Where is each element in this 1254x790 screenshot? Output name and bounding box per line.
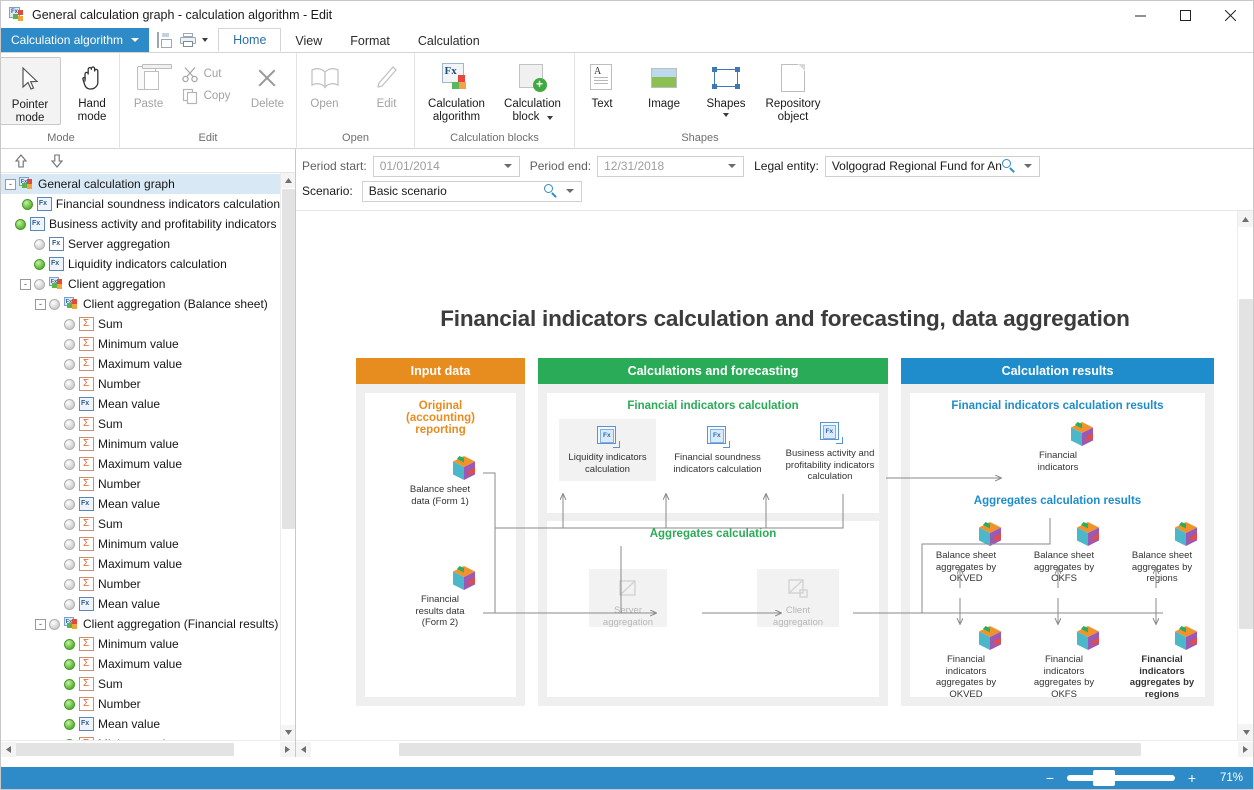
tree-scroll-thumb[interactable] (282, 189, 295, 529)
node-balance-sheet-data[interactable]: Balance sheet data (Form 1) (440, 455, 488, 507)
sigma-icon (79, 557, 94, 571)
tree-expander-spacer (50, 639, 61, 650)
parameters-bar: Period start: 01/01/2014 Period end: 12/… (296, 149, 1253, 211)
delete-label: Delete (251, 98, 284, 111)
cut-button[interactable]: Cut (180, 63, 237, 85)
tree-pane: -FxGeneral calculation graphFinancial so… (1, 149, 296, 757)
tree-item[interactable]: Number (1, 374, 280, 394)
panel-title-aggregates-calculation: Aggregates calculation (547, 521, 879, 540)
status-bullet (64, 519, 75, 530)
diagram-column-calculations: Calculations and forecasting Financial i… (538, 358, 888, 706)
status-bullet (64, 699, 75, 710)
tree-vertical-scrollbar[interactable] (280, 173, 295, 740)
node-client-aggregation[interactable]: Client aggregation (757, 569, 839, 627)
node-label-financial-results-data: Financial results data (Form 2) (392, 594, 488, 629)
tree-horizontal-scrollbar[interactable] (1, 740, 295, 757)
panel-original-reporting: Original (accounting) reporting (365, 393, 516, 697)
print-icon[interactable] (180, 33, 196, 47)
tree-item-label: Sum (98, 517, 123, 531)
minimize-button[interactable] (1118, 1, 1163, 29)
shapes-dropdown-icon[interactable] (723, 113, 729, 117)
arrow-up-icon[interactable] (13, 153, 29, 169)
text-page-icon: A (590, 61, 614, 95)
ribbon-group-mode: Pointermode Handmode Mode (3, 53, 120, 149)
canvas-scroll-area: Financial indicators calculation and for… (296, 211, 1253, 740)
canvas-scroll-left-button[interactable] (296, 742, 311, 757)
cube-icon (977, 521, 1003, 547)
parameters-row-2: Scenario: Basic scenario (302, 180, 1253, 202)
copy-button[interactable]: Copy (180, 85, 237, 107)
client-aggregation-icon (786, 579, 811, 601)
tree-item-label: Business activity and profitability indi… (49, 217, 280, 231)
repository-object-label-1: Repository (766, 98, 821, 110)
node-financial-indicators[interactable]: Financial indicators (1058, 421, 1106, 473)
column-body-calculations: Financial indicators calculation Fx Liqu… (538, 384, 888, 706)
node-label-financial-indicators: Financial indicators (1010, 450, 1106, 473)
quick-access-more-icon[interactable] (202, 38, 208, 42)
tree-expander-spacer (50, 719, 61, 730)
ribbon-group-label-mode: Mode (47, 131, 75, 147)
tree-item[interactable]: Financial soundness indicators calculati… (1, 194, 280, 214)
node-box-server-aggregation: Server aggregation (589, 569, 667, 627)
tree-item[interactable]: -FxGeneral calculation graph (1, 174, 280, 194)
tree-item-label: Number (98, 477, 141, 491)
tab-format[interactable]: Format (336, 30, 404, 52)
column-header-input-data: Input data (356, 358, 525, 384)
fx-document-icon (37, 197, 52, 211)
ribbon-group-shapes: A Text Image Shapes (575, 53, 825, 149)
tree-expander-spacer (50, 699, 61, 710)
node-financial-indicators-aggregates-regions[interactable]: Financial indicators aggregates by regio… (1162, 625, 1210, 700)
ribbon-tabs: Home View Format Calculation (218, 28, 494, 52)
shapes-icon (711, 61, 741, 95)
scroll-up-button[interactable] (281, 173, 295, 188)
copy-icon (182, 88, 199, 105)
fx-document-icon (79, 597, 94, 611)
text-button[interactable]: A Text (571, 57, 633, 111)
status-bullet (64, 659, 75, 670)
fx-icon (49, 237, 64, 251)
tree-toolbar (1, 149, 295, 173)
sigma-icon (79, 417, 94, 431)
open-button[interactable]: Open (294, 57, 356, 111)
period-end-field[interactable]: 12/31/2018 (597, 156, 744, 177)
ribbon-group-label-shapes: Shapes (681, 131, 718, 147)
node-liquidity-indicators-calculation[interactable]: Fx Liquidity indicators calculation (559, 419, 656, 481)
repository-object-icon (781, 61, 805, 95)
node-balance-sheet-aggregates-regions[interactable]: Balance sheet aggregates by regions (1162, 521, 1210, 585)
period-end-label: Period end: (530, 159, 591, 173)
sigma-icon (79, 477, 94, 491)
status-bullet (49, 619, 60, 630)
tree-item-label: Server aggregation (68, 237, 170, 251)
maximize-button[interactable] (1163, 1, 1208, 29)
chevron-down-icon[interactable] (728, 164, 736, 168)
scenario-label: Scenario: (302, 184, 353, 198)
canvas-vertical-scrollbar[interactable] (1237, 211, 1253, 740)
copy-label: Copy (204, 90, 231, 102)
image-button[interactable]: Image (633, 57, 695, 111)
legal-entity-field[interactable]: Volgograd Regional Fund for Animal ' (825, 156, 1040, 177)
ribbon-group-label-calculation-blocks: Calculation blocks (450, 131, 539, 147)
chevron-down-icon[interactable] (566, 189, 574, 193)
tree-expander-spacer (20, 239, 31, 250)
ribbon: Pointermode Handmode Mode Paste (1, 53, 1253, 149)
node-label-balance-sheet-data: Balance sheet data (Form 1) (392, 484, 488, 507)
sigma-icon (79, 337, 94, 351)
hand-mode-label-1: Hand (78, 98, 106, 110)
status-bullet (64, 679, 75, 690)
calculation-graph-icon: Fx (64, 617, 79, 631)
tree-expander-spacer (50, 739, 61, 741)
tab-view[interactable]: View (281, 30, 336, 52)
tree-expander[interactable]: - (35, 619, 46, 630)
open-label: Open (310, 98, 338, 111)
diagram-column-results: Calculation results Financial indicators… (901, 358, 1214, 706)
tree-item-label: Client aggregation (68, 277, 165, 291)
tree-expander-spacer (50, 599, 61, 610)
cube-icon (977, 625, 1003, 651)
tree-item-label: Sum (98, 417, 123, 431)
diagram-title: Financial indicators calculation and for… (356, 306, 1214, 332)
tree-item[interactable]: Business activity and profitability indi… (1, 214, 280, 234)
tree-expander-spacer (8, 199, 19, 210)
tree-expander-spacer (50, 659, 61, 670)
tree-item[interactable]: Maximum value (1, 354, 280, 374)
parameters-row-1: Period start: 01/01/2014 Period end: 12/… (302, 155, 1253, 177)
canvas-hscroll-track[interactable] (311, 742, 1238, 757)
tree-item-label: Sum (98, 677, 123, 691)
status-bullet (15, 219, 26, 230)
tree-item[interactable]: Mean value (1, 494, 280, 514)
tree-item[interactable]: Mean value (1, 594, 280, 614)
calculation-algorithm-label-1: Calculation (428, 98, 485, 110)
save-icon[interactable] (157, 33, 174, 48)
tree-item-label: Minimum value (98, 737, 179, 740)
status-bullet (64, 639, 75, 650)
calculation-graph-tree[interactable]: -FxGeneral calculation graphFinancial so… (1, 173, 280, 740)
sigma-icon (79, 457, 94, 471)
sigma-icon (79, 697, 94, 711)
tree-item[interactable]: Maximum value (1, 554, 280, 574)
cube-icon (1173, 625, 1199, 651)
scenario-value: Basic scenario (369, 184, 544, 198)
zoom-percent-label: 71% (1209, 772, 1243, 784)
text-label: Text (591, 98, 612, 111)
tree-item-label: Client aggregation (Financial results) (83, 617, 278, 631)
scissors-icon (182, 66, 199, 83)
zoom-in-button[interactable]: + (1185, 771, 1199, 785)
editor-pane: Period start: 01/01/2014 Period end: 12/… (296, 149, 1253, 757)
pencil-icon (375, 61, 399, 95)
hand-icon (80, 61, 104, 95)
tree-item[interactable]: Maximum value (1, 454, 280, 474)
sigma-icon (79, 517, 94, 531)
status-bullet (22, 199, 33, 210)
tree-item-label: Financial soundness indicators calculati… (56, 197, 280, 211)
tree-item[interactable]: Maximum value (1, 654, 280, 674)
tree-expander-spacer (50, 479, 61, 490)
tree-item[interactable]: Mean value (1, 714, 280, 734)
panel-financial-indicators-calculation: Financial indicators calculation Fx Liqu… (547, 393, 879, 513)
tree-item[interactable]: Minimum value (1, 434, 280, 454)
node-label-bs-aggr-okfs: Balance sheet aggregates by OKFS (1016, 550, 1112, 585)
fx-algorithm-icon: Fx (442, 61, 472, 95)
tree-item-label: Number (98, 377, 141, 391)
scenario-field[interactable]: Basic scenario (362, 181, 582, 202)
tree-item-label: Liquidity indicators calculation (68, 257, 227, 271)
fx-block-icon: Fx (705, 426, 730, 448)
chevron-down-icon[interactable] (1024, 164, 1032, 168)
calculation-algorithm-button[interactable]: Fx Calculationalgorithm (419, 57, 495, 123)
canvas-hscroll-thumb[interactable] (399, 743, 1141, 756)
diagram-column-input-data: Input data Original (accounting) reporti… (356, 358, 525, 706)
ribbon-group-calculation-blocks: Fx Calculationalgorithm + Calculation bl… (415, 53, 575, 149)
search-icon[interactable] (1002, 159, 1016, 173)
status-bullet (64, 459, 75, 470)
status-bullet (64, 579, 75, 590)
cube-icon (451, 455, 477, 481)
tree-item-label: Number (98, 697, 141, 711)
panel-title-financial-indicators-calculation: Financial indicators calculation (547, 393, 879, 412)
zoom-control: − + 71% (1043, 771, 1253, 785)
chevron-down-icon[interactable] (504, 164, 512, 168)
diagram-canvas[interactable]: Financial indicators calculation and for… (296, 211, 1237, 740)
fx-block-icon: Fx (595, 426, 620, 448)
main-body: -FxGeneral calculation graphFinancial so… (1, 149, 1253, 757)
pointer-mode-button[interactable]: Pointermode (0, 57, 61, 125)
tree-expander-spacer (50, 379, 61, 390)
tree-item[interactable]: -FxClient aggregation (Balance sheet) (1, 294, 280, 314)
tree-item-label: General calculation graph (38, 177, 175, 191)
calculation-graph-icon: Fx (19, 177, 34, 191)
status-bullet (34, 259, 45, 270)
tree-expander-spacer (50, 579, 61, 590)
status-bullet (64, 359, 75, 370)
sigma-icon (79, 437, 94, 451)
sigma-icon (79, 657, 94, 671)
tree-expander-spacer (50, 679, 61, 690)
tree-item-label: Mean value (98, 397, 160, 411)
tree-item-label: Minimum value (98, 537, 179, 551)
tree-item-label: Maximum value (98, 557, 182, 571)
calculation-block-button[interactable]: + Calculation block (495, 57, 571, 123)
calculation-algorithm-label-2: algorithm (433, 111, 480, 123)
image-label: Image (648, 98, 680, 111)
zoom-slider-thumb[interactable] (1093, 770, 1115, 786)
tree-item-label: Client aggregation (Balance sheet) (83, 297, 268, 311)
status-bar: − + 71% (1, 767, 1253, 789)
hand-mode-label-2: mode (78, 111, 107, 123)
calculation-block-dropdown-icon[interactable] (547, 116, 553, 120)
block-plus-icon: + (519, 61, 547, 95)
ribbon-tab-strip: Calculation algorithm Home View Format C… (1, 29, 1253, 53)
ribbon-group-label-edit: Edit (199, 131, 218, 147)
node-financial-indicators-aggregates-okved[interactable]: Financial indicators aggregates by OKVED (966, 625, 1014, 700)
tree-item[interactable]: -FxClient aggregation (1, 274, 280, 294)
quick-access-toolbar (149, 28, 216, 52)
hand-mode-button[interactable]: Handmode (61, 57, 123, 123)
panel-title-line-3: reporting (415, 424, 465, 436)
status-bullet (64, 599, 75, 610)
node-balance-sheet-aggregates-okved[interactable]: Balance sheet aggregates by OKVED (966, 521, 1014, 585)
status-bullet (64, 559, 75, 570)
column-body-input-data: Original (accounting) reporting (356, 384, 525, 706)
panel-title-line-1: Original (419, 400, 462, 412)
tree-expander-spacer (50, 399, 61, 410)
tree-expander[interactable]: - (20, 279, 31, 290)
shapes-button[interactable]: Shapes (695, 57, 757, 117)
application-menu-label: Calculation algorithm (11, 33, 123, 47)
server-aggregation-icon (616, 579, 641, 601)
status-bullet (64, 539, 75, 550)
tree-item-label: Mean value (98, 597, 160, 611)
tree-item[interactable]: Sum (1, 414, 280, 434)
tree-item[interactable]: Sum (1, 514, 280, 534)
tree-hscroll-track[interactable] (16, 742, 280, 757)
panel-aggregates-calculation: Aggregates calculation Server aggregatio… (547, 521, 879, 697)
tree-item[interactable]: Minimum value (1, 734, 280, 740)
tree-item-label: Minimum value (98, 637, 179, 651)
delete-x-icon (256, 61, 278, 95)
scroll-down-button[interactable] (281, 725, 295, 740)
fx-document-icon (30, 217, 45, 231)
search-icon[interactable] (544, 184, 558, 198)
paste-button[interactable]: Paste (118, 57, 180, 111)
paste-label: Paste (134, 98, 163, 111)
status-bullet (64, 319, 75, 330)
tree-expander-spacer (50, 439, 61, 450)
chevron-down-icon (131, 38, 139, 42)
status-bullet (64, 719, 75, 730)
tree-item-label: Sum (98, 317, 123, 331)
tree-expander-spacer (1, 219, 12, 230)
cube-icon (451, 565, 477, 591)
image-icon (651, 61, 677, 95)
node-business-activity-calculation[interactable]: Fx Business activity and profitability i… (778, 415, 882, 489)
process-diagram: Financial indicators calculation and for… (356, 306, 1214, 731)
tree-item[interactable]: Sum (1, 674, 280, 694)
fx-document-icon (79, 497, 94, 511)
node-balance-sheet-aggregates-okfs[interactable]: Balance sheet aggregates by OKFS (1064, 521, 1112, 585)
calculation-block-label-1: Calculation (504, 98, 561, 110)
sigma-icon (79, 317, 94, 331)
node-server-aggregation[interactable]: Server aggregation (589, 569, 667, 627)
node-box-soundness: Fx Financial soundness indicators calcul… (665, 419, 770, 481)
tree-item[interactable]: Server aggregation (1, 234, 280, 254)
tree-item[interactable]: -FxClient aggregation (Financial results… (1, 614, 280, 634)
window-controls (1118, 1, 1253, 29)
fx-document-icon (79, 717, 94, 731)
close-button[interactable] (1208, 1, 1253, 29)
open-book-icon (310, 61, 340, 95)
tree-item[interactable]: Mean value (1, 394, 280, 414)
panel-title-financial-indicators-results: Financial indicators calculation results (910, 393, 1205, 412)
period-start-value: 01/01/2014 (380, 159, 499, 173)
period-start-label: Period start: (302, 159, 367, 173)
scroll-left-button[interactable] (1, 742, 16, 757)
node-financial-indicators-aggregates-okfs[interactable]: Financial indicators aggregates by OKFS (1064, 625, 1112, 700)
node-financial-results-data[interactable]: Financial results data (Form 2) (440, 565, 488, 629)
column-body-results: Financial indicators calculation results (901, 384, 1214, 706)
tree-item[interactable]: Number (1, 694, 280, 714)
pointer-mode-label-2: mode (16, 112, 45, 124)
zoom-slider[interactable] (1067, 775, 1175, 781)
repository-object-button[interactable]: Repositoryobject (757, 57, 829, 123)
status-bullet (64, 419, 75, 430)
tab-calculation[interactable]: Calculation (404, 30, 494, 52)
canvas-scroll-down-button[interactable] (1238, 724, 1253, 740)
tree-expander[interactable]: - (5, 179, 16, 190)
calculation-graph-icon: Fx (49, 277, 64, 291)
panel-calculation-results: Financial indicators calculation results (910, 393, 1205, 697)
node-box-liquidity: Fx Liquidity indicators calculation (559, 419, 656, 481)
panel-title-line-2: (accounting) (406, 412, 475, 424)
tree-expander[interactable]: - (35, 299, 46, 310)
edit-button[interactable]: Edit (356, 57, 418, 111)
tree-expander-spacer (50, 499, 61, 510)
node-financial-soundness-indicators-calculation[interactable]: Fx Financial soundness indicators calcul… (665, 419, 770, 481)
tree-hscroll-thumb[interactable] (16, 743, 234, 756)
sigma-icon (79, 577, 94, 591)
status-bullet (64, 379, 75, 390)
node-box-client-aggregation: Client aggregation (757, 569, 839, 627)
tree-item[interactable]: Number (1, 474, 280, 494)
sigma-icon (79, 737, 94, 740)
calculation-graph-icon: Fx (9, 7, 25, 23)
tree-item[interactable]: Liquidity indicators calculation (1, 254, 280, 274)
tree-item[interactable]: Minimum value (1, 634, 280, 654)
tree-expander-spacer (20, 259, 31, 270)
tree-item[interactable]: Minimum value (1, 534, 280, 554)
sigma-icon (79, 677, 94, 691)
canvas-scroll-thumb[interactable] (1239, 299, 1253, 629)
status-bullet (34, 239, 45, 250)
delete-button[interactable]: Delete (236, 57, 298, 111)
ribbon-group-edit: Paste Cut Copy (120, 53, 297, 149)
tree-item[interactable]: Number (1, 574, 280, 594)
tab-home[interactable]: Home (218, 28, 281, 52)
title-bar: Fx General calculation graph - calculati… (1, 1, 1253, 29)
cube-icon (1069, 421, 1095, 447)
canvas-scroll-right-button[interactable] (1238, 742, 1253, 757)
zoom-out-button[interactable]: − (1043, 771, 1057, 785)
status-bullet (64, 739, 75, 741)
tree-item[interactable]: Minimum value (1, 334, 280, 354)
node-box-business-activity: Fx Business activity and profitability i… (778, 415, 882, 489)
status-bullet (64, 499, 75, 510)
canvas-horizontal-scrollbar[interactable] (296, 740, 1253, 757)
arrow-down-icon[interactable] (49, 153, 65, 169)
fx-document-icon (79, 397, 94, 411)
status-bullet (49, 299, 60, 310)
period-start-field[interactable]: 01/01/2014 (373, 156, 520, 177)
ribbon-group-open: Open Edit Open (297, 53, 415, 149)
cursor-arrow-icon (20, 62, 40, 96)
application-menu-button[interactable]: Calculation algorithm (1, 28, 149, 52)
node-label-fi-aggr-okved: Financial indicators aggregates by OKVED (918, 654, 1014, 700)
canvas-scroll-up-button[interactable] (1238, 211, 1253, 227)
sigma-icon (79, 637, 94, 651)
paste-icon (137, 61, 161, 95)
tree-item-label: Maximum value (98, 657, 182, 671)
tree-scroll-area: -FxGeneral calculation graphFinancial so… (1, 173, 295, 740)
shapes-label: Shapes (706, 98, 745, 111)
pointer-mode-label-1: Pointer (12, 99, 48, 111)
tree-item[interactable]: Sum (1, 314, 280, 334)
scroll-right-button[interactable] (280, 742, 295, 757)
node-label-fi-aggr-regions: Financial indicators aggregates by regio… (1114, 654, 1210, 700)
